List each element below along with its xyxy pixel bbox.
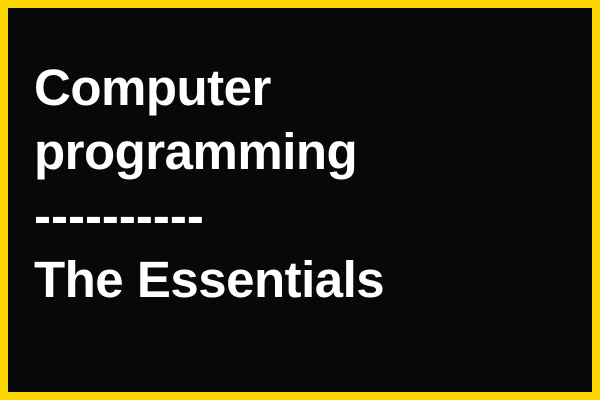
title-divider-dashes: ---------- [34,184,574,248]
title-block: Computer programming ---------- The Esse… [34,56,574,312]
title-line-the-essentials: The Essentials [34,248,574,312]
title-line-computer: Computer [34,56,574,120]
title-line-programming: programming [34,120,574,184]
title-slide: Computer programming ---------- The Esse… [0,0,600,400]
